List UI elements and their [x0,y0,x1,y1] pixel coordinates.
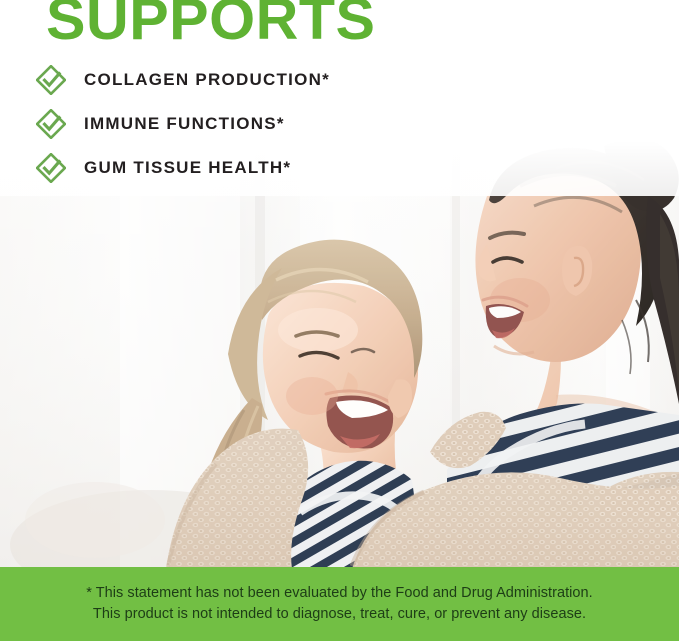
benefits-list: COLLAGEN PRODUCTION* IMMUNE FUNCTIONS* [0,58,679,190]
list-item: GUM TISSUE HEALTH* [0,146,679,190]
list-item: IMMUNE FUNCTIONS* [0,102,679,146]
diamond-check-icon [36,65,66,95]
list-item-label: COLLAGEN PRODUCTION* [84,70,330,90]
diamond-check-icon [36,153,66,183]
page-title: SUPPORTS [46,0,376,49]
fda-disclaimer-banner: * This statement has not been evaluated … [0,567,679,641]
list-item-label: GUM TISSUE HEALTH* [84,158,291,178]
list-item: COLLAGEN PRODUCTION* [0,58,679,102]
diamond-check-icon [36,109,66,139]
supports-claims-block: SUPPORTS COLLAGEN PRODUCTION* [0,0,679,196]
product-infographic-panel: SUPPORTS COLLAGEN PRODUCTION* [0,0,679,641]
disclaimer-line-1: * This statement has not been evaluated … [86,583,593,604]
list-item-label: IMMUNE FUNCTIONS* [84,114,285,134]
disclaimer-line-2: This product is not intended to diagnose… [93,604,586,625]
